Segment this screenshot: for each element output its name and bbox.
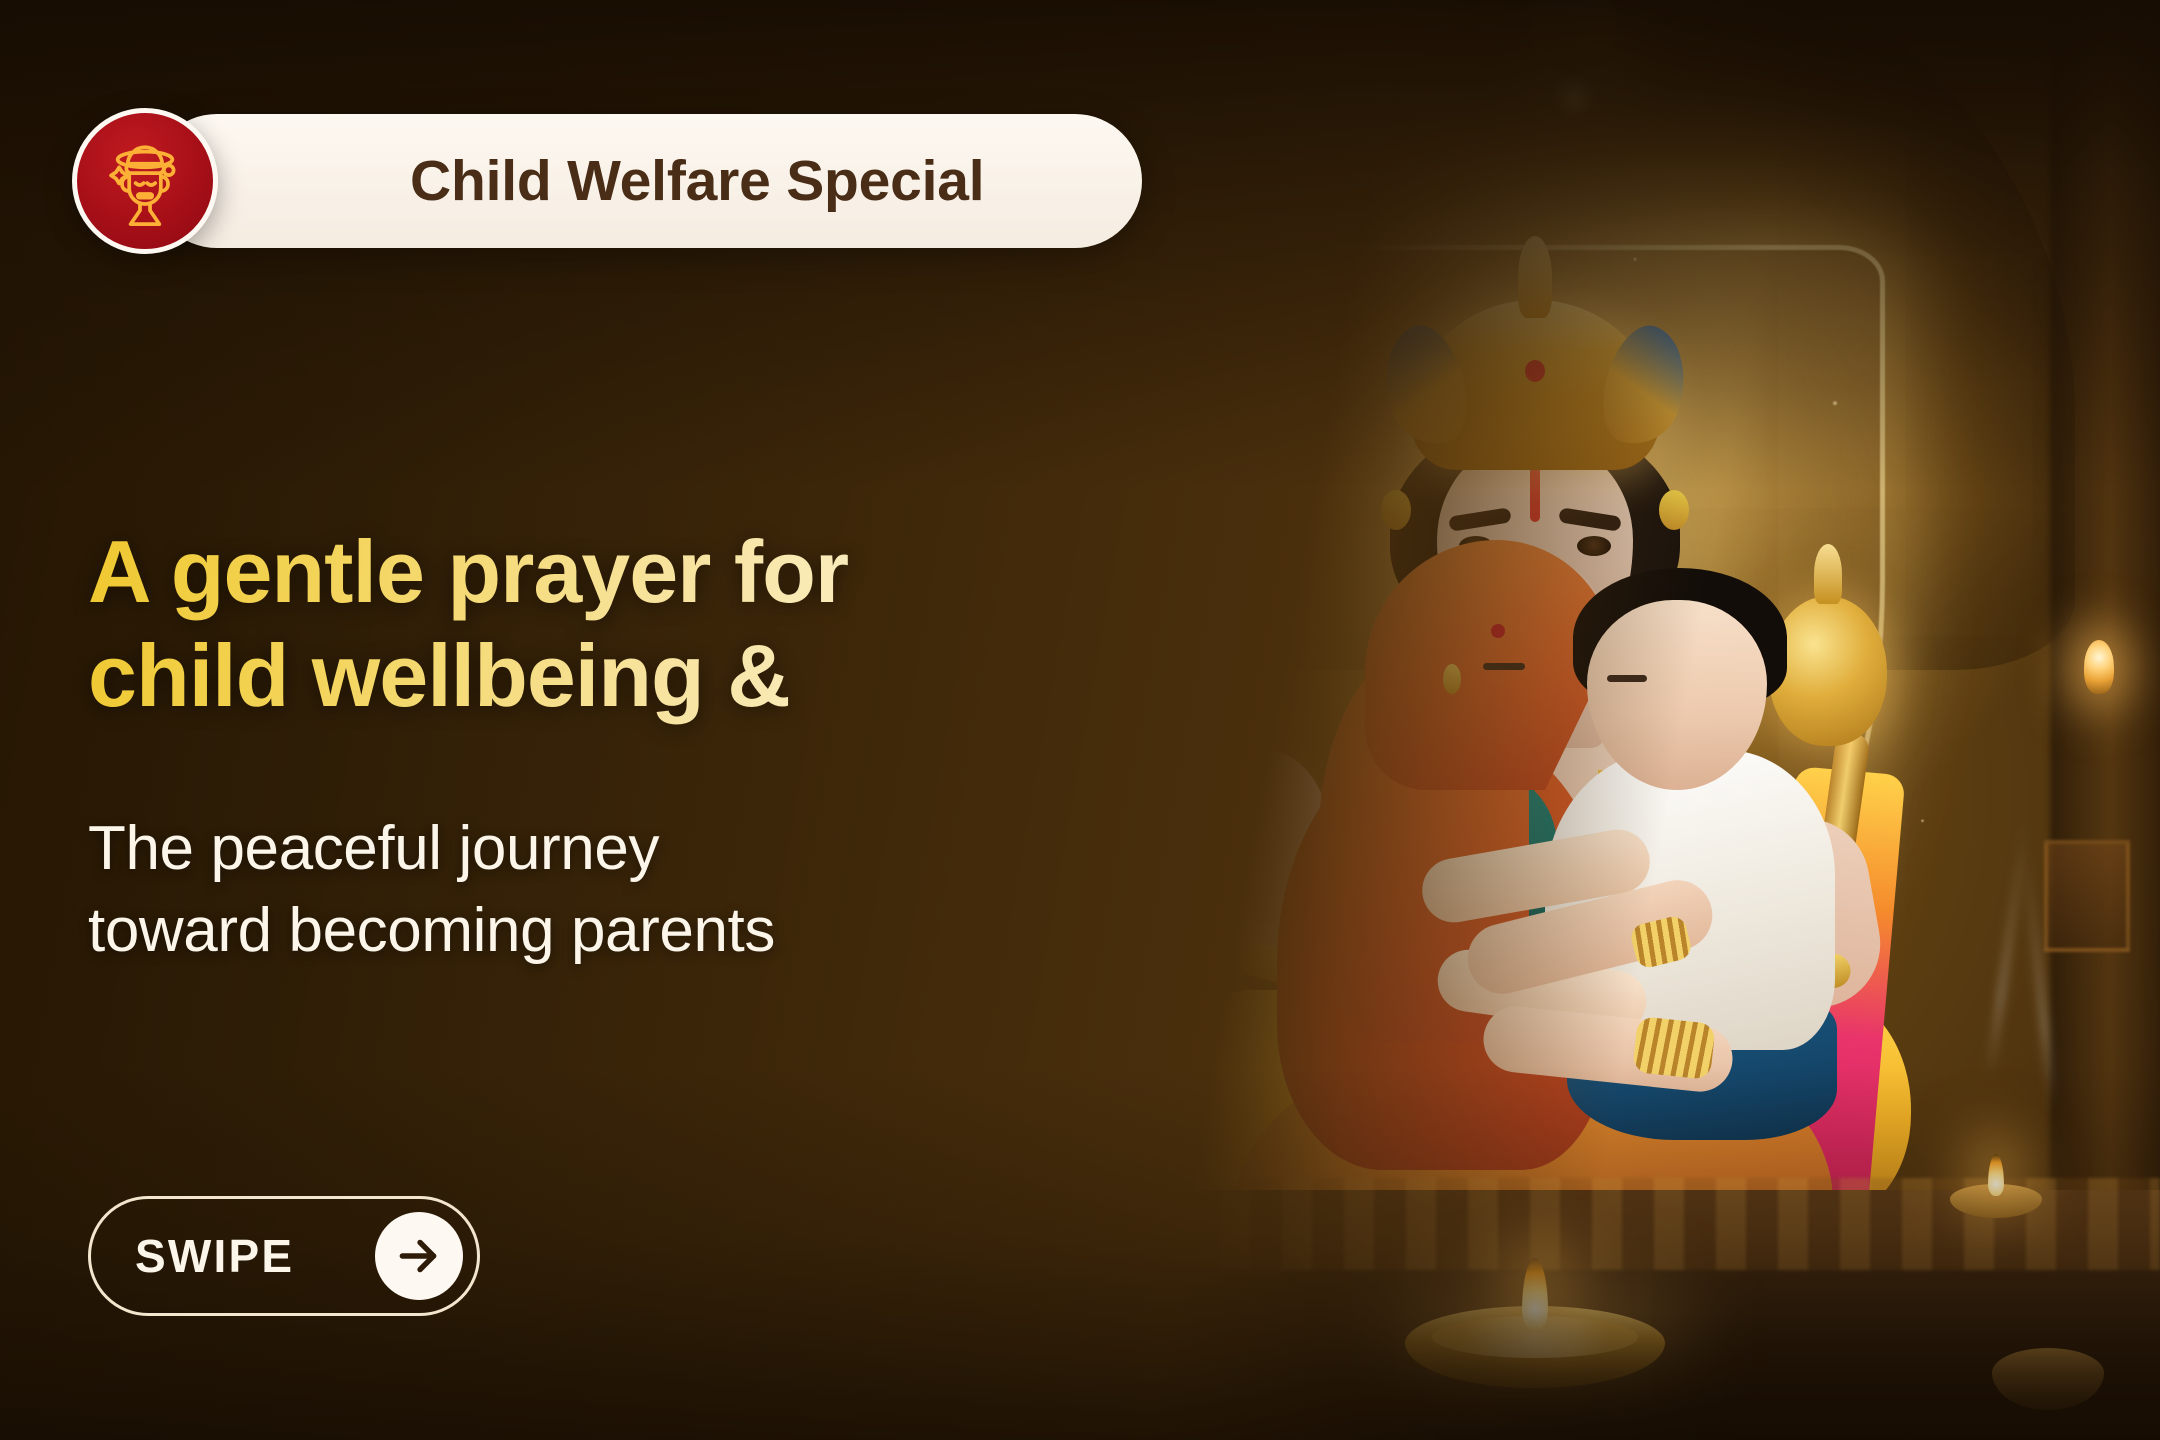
swipe-button-label: SWIPE: [135, 1229, 294, 1283]
slide-content: Child Welfare Special: [0, 0, 2160, 1440]
headline-line-1: A gentle prayer for: [88, 522, 848, 621]
category-badge-pill[interactable]: Child Welfare Special: [150, 114, 1142, 248]
subhead-line-1: The peaceful journey: [88, 814, 659, 883]
slide-canvas: Child Welfare Special: [0, 0, 2160, 1440]
arrow-right-icon: [394, 1231, 444, 1281]
category-badge-label: Child Welfare Special: [410, 148, 1046, 214]
meditating-face-with-halo-icon: [99, 135, 191, 227]
swipe-button[interactable]: SWIPE: [88, 1196, 480, 1316]
page-subtitle: The peaceful journey toward becoming par…: [88, 808, 1088, 973]
page-title: A gentle prayer for child wellbeing &: [88, 520, 1088, 728]
headline-line-2: child wellbeing &: [88, 626, 790, 725]
badge-avatar: [72, 108, 218, 254]
subhead-line-2: toward becoming parents: [88, 896, 775, 965]
swipe-arrow-circle[interactable]: [375, 1212, 463, 1300]
